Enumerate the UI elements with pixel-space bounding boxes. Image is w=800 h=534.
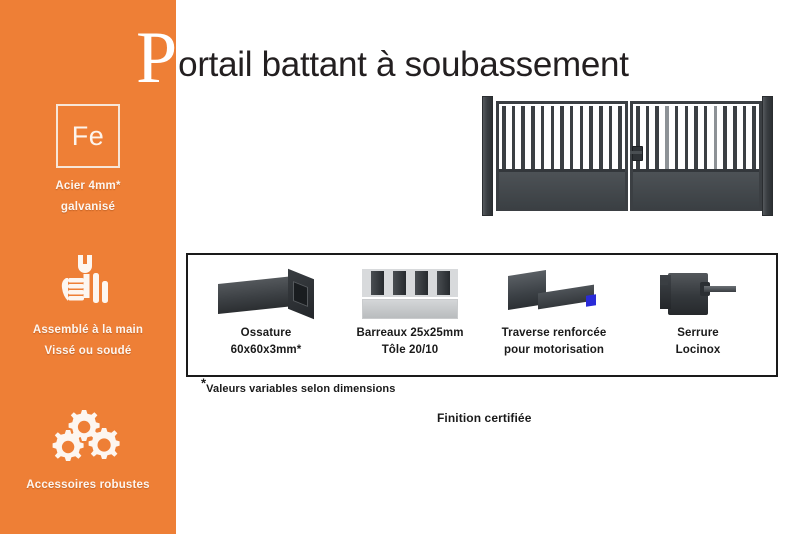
spec-item-barreaux: Barreaux 25x25mm Tôle 20/10 (338, 263, 482, 375)
spec-item-serrure-line1: Serrure (677, 325, 719, 342)
footnote: *Valeurs variables selon dimensions (201, 383, 395, 395)
product-datasheet-page: Fe Acier 4mm* galvanisé (0, 0, 800, 534)
sidebar-feature-steel-line1: Acier 4mm* (0, 176, 176, 197)
specification-items: Ossature 60x60x3mm* Barreaux 25x25mm Tôl… (188, 255, 776, 375)
sidebar-feature-steel-line2: galvanisé (0, 197, 176, 218)
page-title-text: ortail battant à soubassement (178, 45, 628, 85)
spec-item-traverse: Traverse renforcée pour motorisation (482, 263, 626, 375)
spec-item-traverse-line2: pour motorisation (504, 342, 604, 359)
specification-panel: Ossature 60x60x3mm* Barreaux 25x25mm Tôl… (186, 253, 778, 377)
square-tube-profile-icon (218, 263, 314, 325)
spec-item-serrure-line2: Locinox (676, 342, 721, 359)
gate-leaf-right-bars (633, 104, 759, 172)
gate-leaf-right-soubassement (633, 169, 759, 208)
fe-element-box-icon: Fe (56, 104, 120, 168)
motorisation-crossbar-icon (502, 263, 606, 325)
lock-icon (656, 263, 740, 325)
gate-post-left (482, 96, 493, 216)
spec-item-serrure: Serrure Locinox (626, 263, 770, 375)
sidebar-feature-assembly: Assemblé à la main Vissé ou soudé (0, 250, 176, 362)
gate-post-right (762, 96, 773, 216)
bars-and-sheet-icon (362, 263, 458, 325)
gate-leaf-left-bars (499, 104, 625, 172)
gate-leaf-left-soubassement (499, 169, 625, 208)
wrench-hand-icon (0, 250, 176, 316)
page-title: P ortail battant à soubassement (136, 24, 629, 85)
sidebar-feature-assembly-line2: Vissé ou soudé (0, 341, 176, 362)
footnote-text: Valeurs variables selon dimensions (206, 383, 395, 395)
gate-lock-handle-icon (632, 146, 643, 161)
spec-item-barreaux-line2: Tôle 20/10 (382, 342, 439, 359)
spec-item-traverse-line1: Traverse renforcée (502, 325, 607, 342)
gate-leaf-left (496, 101, 628, 211)
gate-leaf-right (630, 101, 762, 211)
finition-certifiee-label: Finition certifiée (437, 411, 531, 425)
sidebar-feature-accessories-line1: Accessoires robustes (0, 475, 176, 496)
sidebar-feature-assembly-line1: Assemblé à la main (0, 320, 176, 341)
page-title-dropcap: P (136, 30, 177, 86)
fe-symbol-label: Fe (72, 123, 105, 150)
spec-item-ossature-line2: 60x60x3mm* (231, 342, 302, 359)
sidebar-feature-steel: Fe Acier 4mm* galvanisé (0, 104, 176, 218)
spec-item-ossature: Ossature 60x60x3mm* (194, 263, 338, 375)
sidebar-feature-accessories: Accessoires robustes (0, 405, 176, 496)
spec-item-ossature-line1: Ossature (241, 325, 292, 342)
double-leaf-gate-illustration (478, 96, 778, 216)
spec-item-barreaux-line1: Barreaux 25x25mm (356, 325, 463, 342)
gears-icon (0, 405, 176, 471)
